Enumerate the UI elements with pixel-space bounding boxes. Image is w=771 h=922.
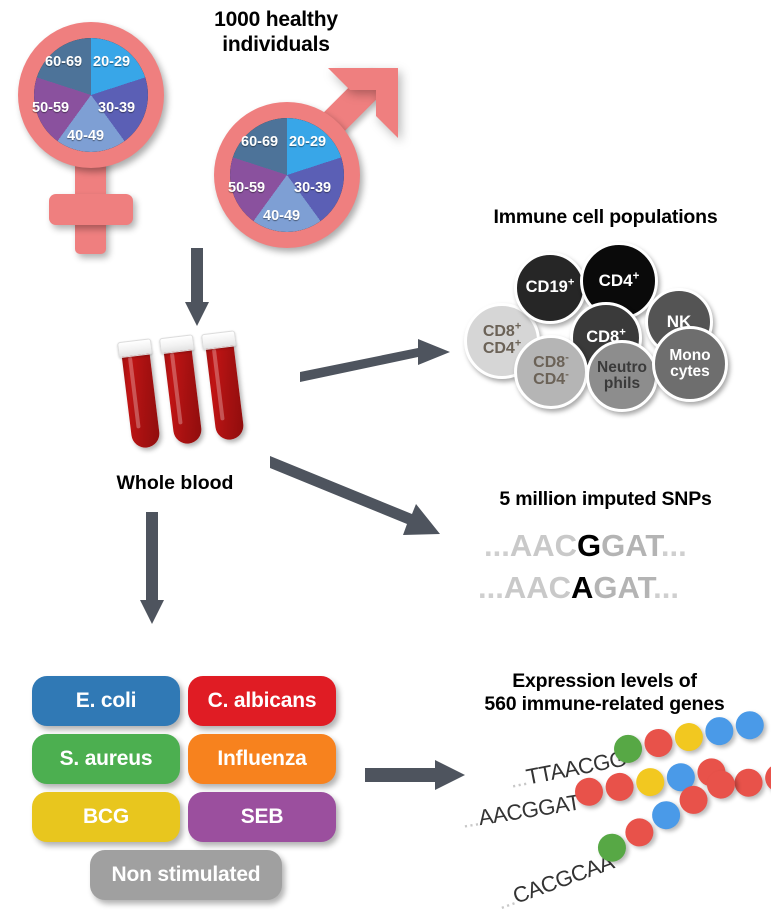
arrow-svg	[365, 760, 475, 794]
strand-bead	[763, 762, 771, 794]
pie-label-50-59: 50-59	[228, 180, 265, 196]
figure-canvas: 1000 healthy individuals 20-29 30-39 40-…	[0, 0, 771, 922]
cell-cd8neg-cd4neg: CD8- CD4-	[514, 335, 588, 409]
arrow-svg	[270, 452, 450, 542]
cell-cd19pos: CD19+	[514, 252, 586, 324]
tube-body	[163, 345, 203, 446]
snp-lead-dots: ...	[478, 570, 504, 605]
arrow-svg	[300, 332, 460, 388]
female-symbol: 20-29 30-39 40-49 50-59 60-69	[6, 14, 186, 264]
snp-suffix: GAT	[593, 570, 653, 605]
cell-label: CD8+ CD4+	[483, 324, 521, 357]
cell-label: Mono cytes	[669, 348, 710, 380]
male-symbol: 20-29 30-39 40-49 50-59 60-69	[202, 52, 417, 242]
snp-sequences: ...AACGGAT... ...AACAGAT...	[470, 528, 740, 618]
cell-monocytes: Mono cytes	[652, 326, 728, 402]
expression-title: Expression levels of 560 immune-related …	[438, 670, 771, 716]
snp-prefix: AAC	[510, 528, 577, 563]
expression-strand: ...CACGCAA	[494, 849, 618, 915]
snp-title: 5 million imputed SNPs	[440, 488, 771, 511]
strand-bead	[604, 771, 636, 803]
strand-bead	[648, 797, 684, 833]
whole-blood-label: Whole blood	[85, 472, 265, 495]
strand-bases: AACGGAT	[477, 789, 582, 830]
snp-row: ...AACGGAT...	[484, 528, 687, 564]
strand-bead	[634, 766, 666, 798]
stimulus-bcg[interactable]: BCG	[32, 792, 180, 842]
strand-bead	[642, 727, 675, 760]
strand-bead	[733, 767, 765, 799]
pie-label-40-49: 40-49	[67, 128, 104, 144]
pie-label-50-59: 50-59	[32, 100, 69, 116]
snp-variant: G	[577, 528, 601, 563]
cell-label: CD19+	[526, 279, 575, 296]
pie-label-40-49: 40-49	[263, 208, 300, 224]
cell-neutrophils: Neutro phils	[586, 340, 658, 412]
arrow-blood-to-snps	[270, 452, 450, 547]
pie-label-30-39: 30-39	[98, 100, 135, 116]
cell-label: Neutro phils	[597, 360, 647, 392]
tube-body	[121, 349, 161, 450]
female-crossbar	[49, 194, 133, 225]
pie-label-20-29: 20-29	[93, 54, 130, 70]
stimulus-influenza[interactable]: Influenza	[188, 734, 336, 784]
expression-title-line-2: 560 immune-related genes	[438, 693, 771, 716]
snp-lead-dots: ...	[484, 528, 510, 563]
arrow-head	[185, 302, 209, 326]
page-title: 1000 healthy individuals	[176, 8, 376, 58]
strand-bead	[703, 715, 736, 748]
stimulus-seb[interactable]: SEB	[188, 792, 336, 842]
arrow-shape	[365, 760, 465, 790]
expression-title-line-1: Expression levels of	[438, 670, 771, 693]
tube-body	[205, 341, 245, 442]
pie-label-30-39: 30-39	[294, 180, 331, 196]
stimulus-s-aureus[interactable]: S. aureus	[32, 734, 180, 784]
stimulus-e-coli[interactable]: E. coli	[32, 676, 180, 726]
arrow-blood-to-immune	[300, 332, 460, 393]
stimulus-non-stimulated[interactable]: Non stimulated	[90, 850, 282, 900]
strand-bases: CACGCAA	[509, 849, 616, 909]
pie-label-60-69: 60-69	[241, 134, 278, 150]
whole-blood-group	[100, 330, 270, 470]
immune-cell-cluster: CD8+ CD4+ CD19+ CD4+ NK CD8+	[452, 240, 752, 420]
immune-cell-title: Immune cell populations	[440, 206, 771, 229]
snp-suffix: GAT	[601, 528, 661, 563]
snp-trail-dots: ...	[653, 570, 679, 605]
pie-label-20-29: 20-29	[289, 134, 326, 150]
cell-label: CD4+	[599, 272, 640, 290]
strand-bead	[672, 721, 705, 754]
snp-variant: A	[571, 570, 593, 605]
arrow-head	[140, 600, 164, 624]
arrow-shaft	[146, 512, 158, 604]
stimulus-c-albicans[interactable]: C. albicans	[188, 676, 336, 726]
strand-sequence: ...AACGGAT	[460, 789, 582, 832]
snp-row: ...AACAGAT...	[478, 570, 679, 606]
snp-trail-dots: ...	[661, 528, 687, 563]
strand-sequence: ...CACGCAA	[494, 849, 617, 914]
title-line-1: 1000 healthy	[176, 8, 376, 33]
arrow-shaft	[191, 248, 203, 306]
stimuli-group: E. coli C. albicans S. aureus Influenza …	[32, 676, 332, 892]
arrow-shape	[270, 456, 440, 535]
pie-label-60-69: 60-69	[45, 54, 82, 70]
cell-label: CD8- CD4-	[533, 355, 569, 388]
expression-strand: ...AACGGAT	[460, 789, 582, 833]
arrow-stimuli-to-expression	[365, 760, 475, 799]
arrow-shape	[300, 339, 450, 382]
snp-prefix: AAC	[504, 570, 571, 605]
expression-strands: ...TTAACGG ...AACGGAT ...CACGCAA	[460, 730, 771, 910]
